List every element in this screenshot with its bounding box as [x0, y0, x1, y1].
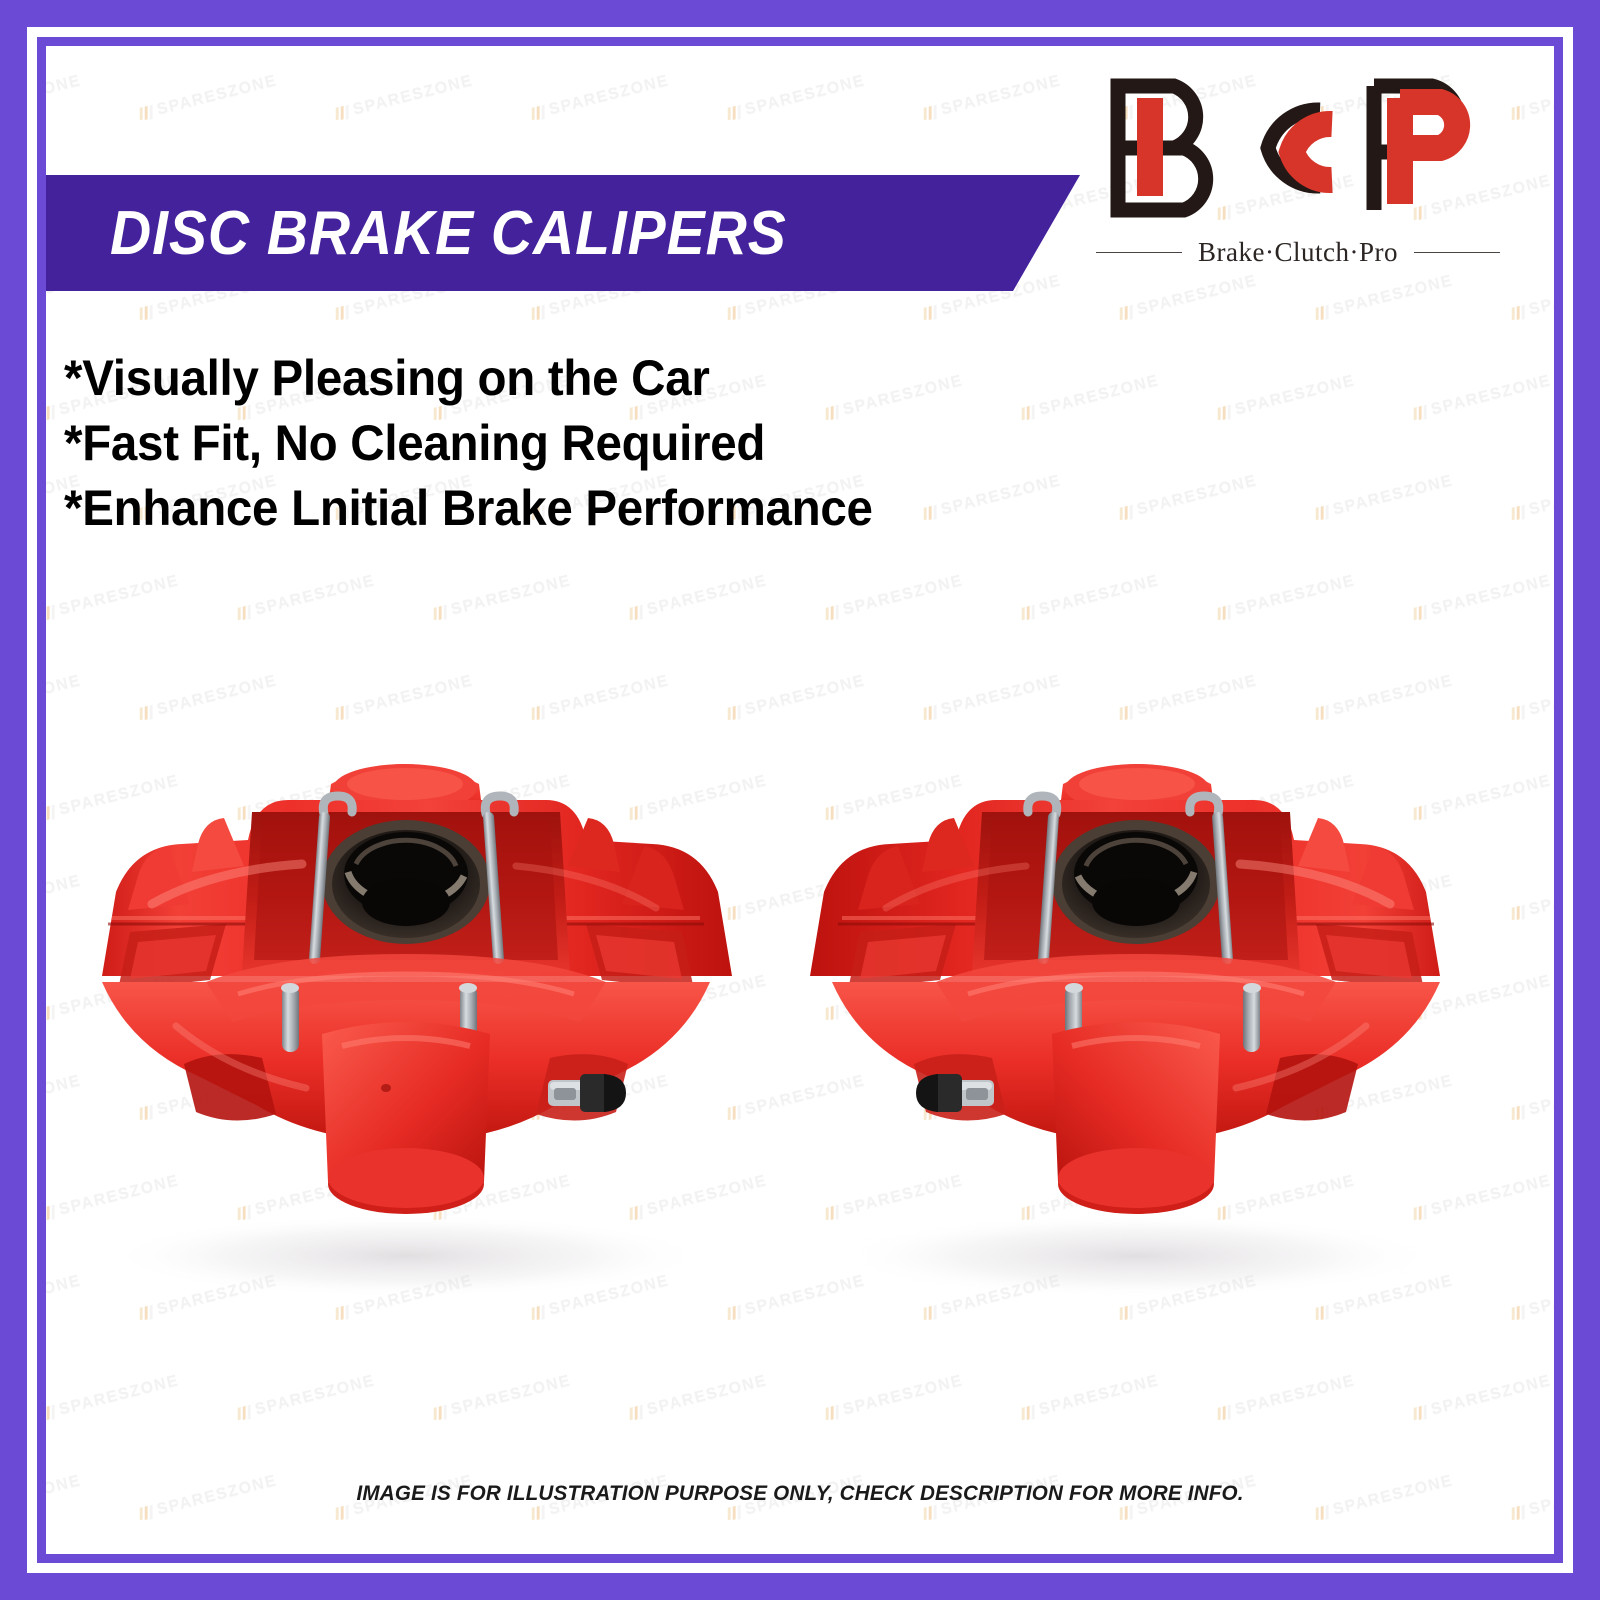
watermark-bars-icon	[1216, 405, 1232, 422]
watermark-tile: SPARESZONE	[1314, 472, 1455, 524]
watermark-bars-icon	[1314, 505, 1330, 522]
watermark-bars-icon	[46, 1405, 56, 1422]
watermark-tile: SPARESZONE	[236, 1372, 377, 1424]
watermark-tile: SPARESZONE	[922, 472, 1063, 524]
product-listing-image: SPARESZONESPARESZONESPARESZONESPARESZONE…	[0, 0, 1600, 1600]
watermark-tile: SPARESZONE	[628, 1372, 769, 1424]
watermark-tile: SPARESZONE	[236, 572, 377, 624]
page-title: DISC BRAKE CALIPERS	[110, 198, 787, 269]
watermark-text: SPARESZONE	[645, 572, 769, 619]
watermark-bars-icon	[1510, 305, 1526, 322]
header: DISC BRAKE CALIPERS	[46, 46, 1554, 306]
watermark-bars-icon	[922, 305, 938, 322]
watermark-tile: SPARESZONE	[46, 572, 181, 624]
image-canvas: SPARESZONESPARESZONESPARESZONESPARESZONE…	[46, 46, 1554, 1554]
watermark-bars-icon	[628, 605, 644, 622]
watermark-text: SPARESZONE	[1037, 572, 1161, 619]
watermark-tile: SPARESZONE	[1216, 572, 1357, 624]
watermark-tile: SPARESZONE	[1412, 572, 1553, 624]
watermark-tile: SPARESZONE	[432, 1372, 573, 1424]
watermark-bars-icon	[1216, 1405, 1232, 1422]
watermark-text: SPARESZONE	[1527, 472, 1554, 519]
product-shadow	[106, 1214, 706, 1298]
watermark-bars-icon	[1020, 405, 1036, 422]
watermark-tile: SPARESZONE	[1412, 1372, 1553, 1424]
watermark-bars-icon	[1412, 405, 1428, 422]
watermark-text: SPARESZONE	[1331, 472, 1455, 519]
feature-bullet-list: *Visually Pleasing on the Car *Fast Fit,…	[64, 346, 915, 541]
watermark-text: SPARESZONE	[449, 1372, 573, 1419]
watermark-bars-icon	[1118, 1505, 1134, 1522]
watermark-bars-icon	[46, 605, 56, 622]
watermark-bars-icon	[1118, 505, 1134, 522]
watermark-text: SPARESZONE	[1135, 472, 1259, 519]
watermark-tile: SPARESZONE	[1020, 572, 1161, 624]
watermark-text: SPARESZONE	[57, 1372, 181, 1419]
watermark-bars-icon	[1314, 305, 1330, 322]
watermark-tile: SPARESZONE	[824, 572, 965, 624]
feature-bullet: *Enhance Lnitial Brake Performance	[64, 476, 873, 541]
watermark-bars-icon	[138, 1505, 154, 1522]
watermark-text: SPARESZONE	[645, 1372, 769, 1419]
watermark-bars-icon	[1020, 605, 1036, 622]
watermark-bars-icon	[1314, 1505, 1330, 1522]
feature-bullet: *Visually Pleasing on the Car	[64, 346, 873, 411]
watermark-tile: SPARESZONE	[1216, 1372, 1357, 1424]
watermark-tile: SPARESZONE	[46, 1372, 181, 1424]
watermark-bars-icon	[628, 1405, 644, 1422]
watermark-bars-icon	[236, 605, 252, 622]
watermark-text: SPARESZONE	[1429, 1372, 1553, 1419]
watermark-bars-icon	[726, 305, 742, 322]
watermark-bars-icon	[530, 305, 546, 322]
watermark-bars-icon	[432, 1405, 448, 1422]
watermark-bars-icon	[1020, 1405, 1036, 1422]
brake-caliper-left	[56, 696, 756, 1316]
watermark-bars-icon	[726, 1505, 742, 1522]
watermark-bars-icon	[1118, 305, 1134, 322]
watermark-text: SPARESZONE	[1233, 572, 1357, 619]
product-photo	[46, 666, 1554, 1366]
disclaimer: IMAGE IS FOR ILLUSTRATION PURPOSE ONLY, …	[46, 1481, 1554, 1506]
watermark-text: SPARESZONE	[253, 572, 377, 619]
watermark-text: SPARESZONE	[841, 572, 965, 619]
watermark-bars-icon	[530, 1505, 546, 1522]
tagline-rule-left	[1096, 252, 1182, 253]
watermark-tile: SPARESZONE	[1020, 372, 1161, 424]
watermark-bars-icon	[1510, 505, 1526, 522]
logo-tagline: Brake·Clutch·Pro	[1088, 237, 1508, 268]
brand-logo: Brake·Clutch·Pro	[1088, 68, 1508, 283]
watermark-bars-icon	[824, 605, 840, 622]
watermark-text: SPARESZONE	[1429, 372, 1553, 419]
watermark-bars-icon	[922, 1505, 938, 1522]
watermark-text: SPARESZONE	[841, 1372, 965, 1419]
tagline-rule-right	[1414, 252, 1500, 253]
watermark-tile: SPARESZONE	[628, 572, 769, 624]
logo-bcp-mark	[1088, 68, 1508, 233]
watermark-tile: SPARESZONE	[824, 1372, 965, 1424]
watermark-text: SPARESZONE	[1233, 1372, 1357, 1419]
watermark-bars-icon	[432, 605, 448, 622]
title-banner: DISC BRAKE CALIPERS	[46, 175, 1080, 291]
watermark-tile: SPARESZONE	[1020, 1372, 1161, 1424]
feature-bullet: *Fast Fit, No Cleaning Required	[64, 411, 873, 476]
watermark-bars-icon	[1412, 1405, 1428, 1422]
watermark-bars-icon	[46, 405, 56, 422]
watermark-tile: SPARESZONE	[1510, 472, 1554, 524]
guide-pin	[1243, 983, 1261, 1052]
watermark-bars-icon	[1510, 1505, 1526, 1522]
watermark-text: SPARESZONE	[1037, 1372, 1161, 1419]
watermark-text: SPARESZONE	[57, 572, 181, 619]
watermark-tile: SPARESZONE	[1412, 372, 1553, 424]
watermark-text: SPARESZONE	[939, 472, 1063, 519]
watermark-bars-icon	[334, 1505, 350, 1522]
watermark-bars-icon	[1412, 605, 1428, 622]
watermark-bars-icon	[1216, 605, 1232, 622]
watermark-bars-icon	[824, 1405, 840, 1422]
watermark-bars-icon	[138, 305, 154, 322]
brake-caliper-right	[786, 696, 1486, 1316]
watermark-bars-icon	[334, 305, 350, 322]
guide-pin	[281, 983, 299, 1052]
tagline-text: Brake·Clutch·Pro	[1198, 237, 1398, 268]
watermark-text: SPARESZONE	[1233, 372, 1357, 419]
watermark-text: SPARESZONE	[1037, 372, 1161, 419]
disclaimer-text: IMAGE IS FOR ILLUSTRATION PURPOSE ONLY, …	[356, 1481, 1243, 1506]
watermark-text: SPARESZONE	[449, 572, 573, 619]
watermark-tile: SPARESZONE	[432, 572, 573, 624]
watermark-bars-icon	[922, 505, 938, 522]
watermark-text: SPARESZONE	[253, 1372, 377, 1419]
watermark-tile: SPARESZONE	[1216, 372, 1357, 424]
watermark-bars-icon	[236, 1405, 252, 1422]
watermark-tile: SPARESZONE	[1118, 472, 1259, 524]
product-shadow	[836, 1214, 1436, 1298]
watermark-text: SPARESZONE	[1429, 572, 1553, 619]
